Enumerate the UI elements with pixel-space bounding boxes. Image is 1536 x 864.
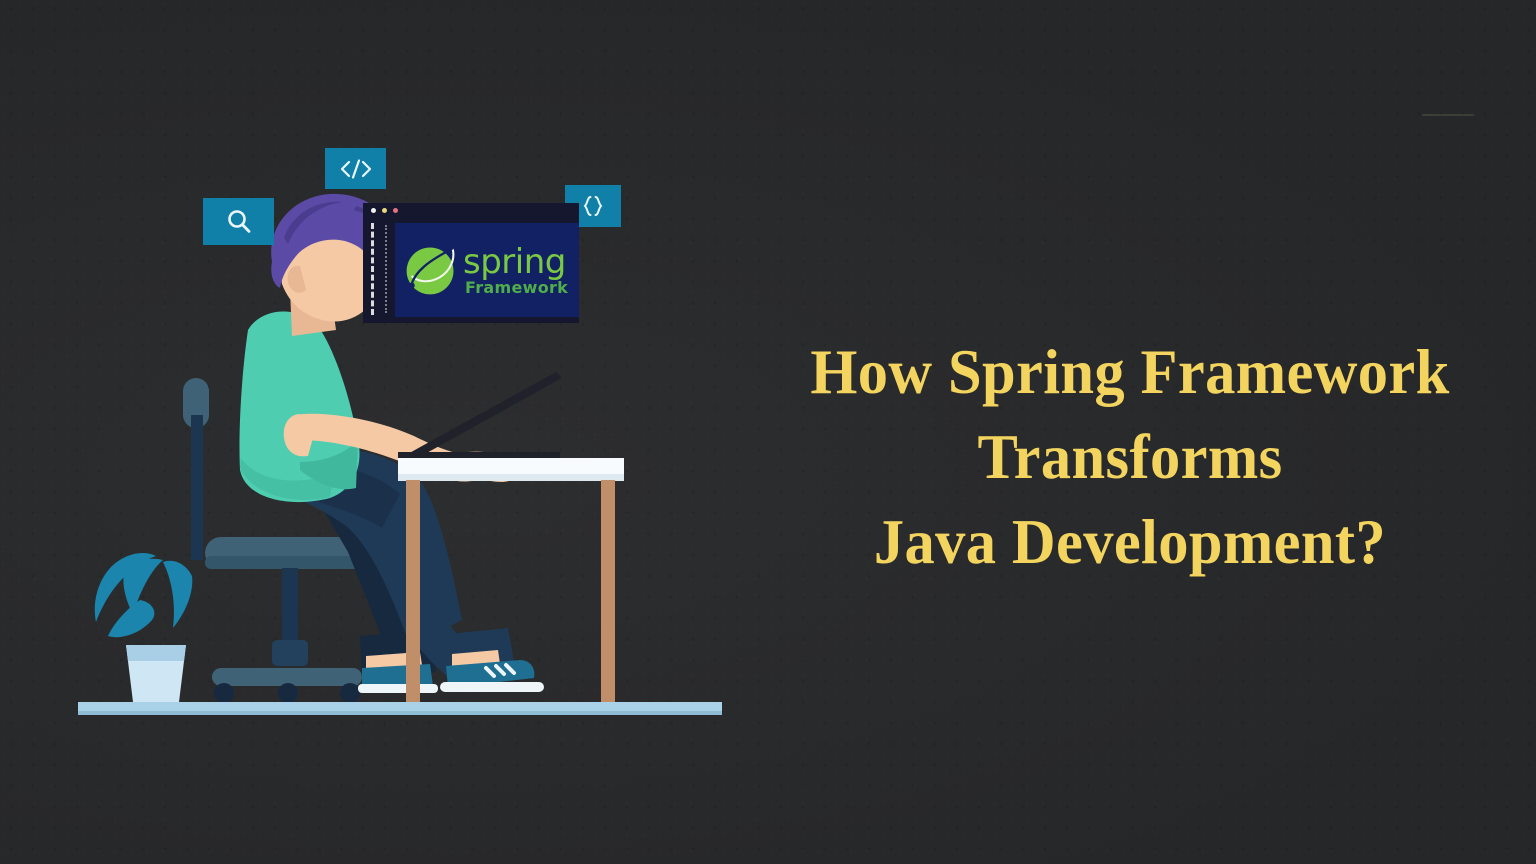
spring-framework-logo: spring Framework bbox=[395, 240, 568, 300]
poster-canvas: spring Framework How Spring Framework Tr… bbox=[0, 0, 1536, 864]
spring-framework-subtext: Framework bbox=[465, 280, 568, 296]
potted-plant bbox=[95, 553, 193, 702]
window-gutter-dots bbox=[385, 225, 387, 313]
window-dashed-rule bbox=[371, 223, 374, 315]
page-title-line-1: How Spring Framework bbox=[775, 330, 1485, 415]
floor-line bbox=[78, 702, 722, 715]
curly-braces-icon bbox=[578, 194, 608, 218]
window-content: spring Framework bbox=[395, 223, 579, 317]
code-tag-icon bbox=[338, 158, 374, 180]
scene-artwork bbox=[0, 0, 760, 864]
background-artifact-line bbox=[1422, 114, 1474, 116]
code-editor-window[interactable]: spring Framework bbox=[363, 203, 579, 323]
search-icon-tile[interactable] bbox=[203, 198, 274, 245]
laptop bbox=[398, 372, 562, 462]
spring-wordmark-text: spring bbox=[463, 245, 568, 279]
search-icon bbox=[224, 207, 254, 237]
developer-illustration: spring Framework bbox=[0, 0, 760, 864]
code-icon-tile[interactable] bbox=[325, 148, 386, 189]
page-title-line-3: Java Development? bbox=[775, 500, 1485, 585]
window-maximize-dot[interactable] bbox=[393, 208, 398, 213]
spring-leaf-icon bbox=[401, 240, 461, 300]
window-minimize-dot[interactable] bbox=[382, 208, 387, 213]
page-title: How Spring Framework Transforms Java Dev… bbox=[760, 330, 1500, 585]
window-close-dot[interactable] bbox=[371, 208, 376, 213]
page-title-line-2: Transforms bbox=[775, 415, 1485, 500]
window-title-bar bbox=[363, 203, 579, 217]
